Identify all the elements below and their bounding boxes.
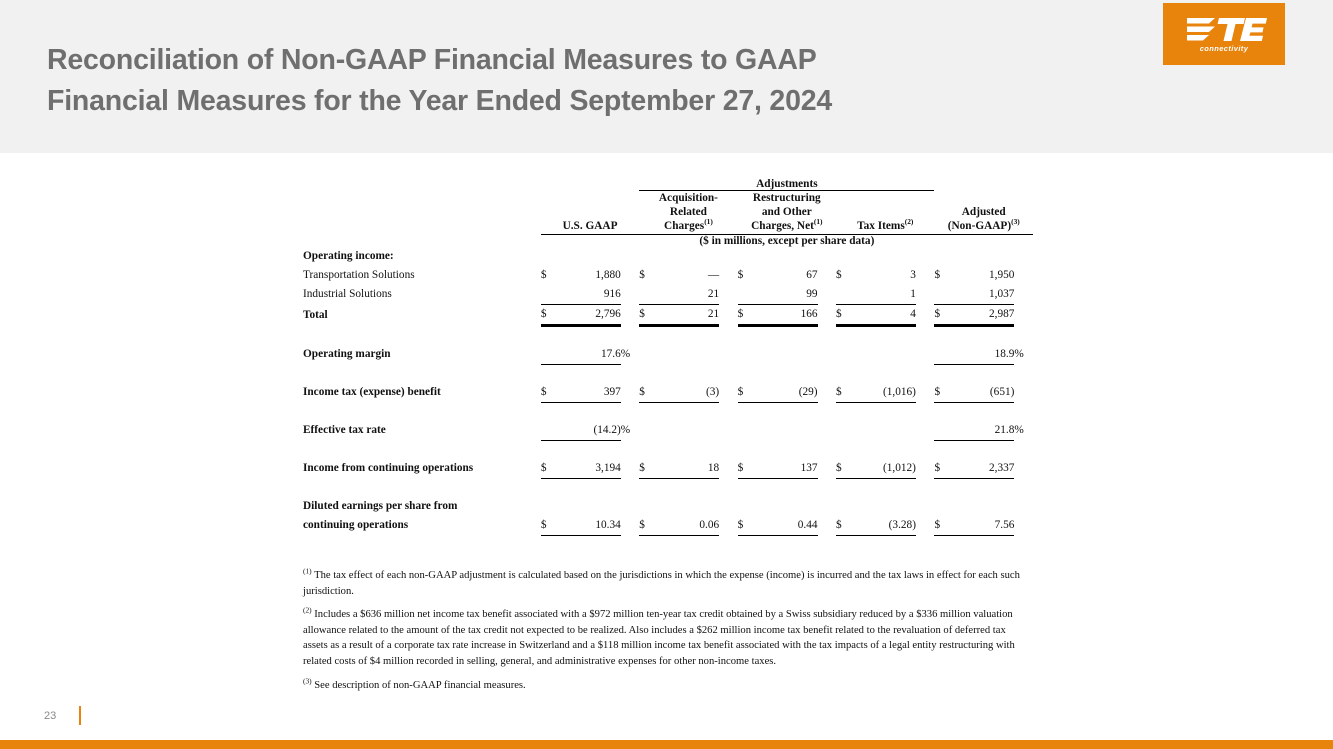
cell-value: [656, 345, 720, 365]
cell-unit: [1014, 383, 1033, 403]
table-row: Industrial Solutions 916 21 99 1 1,037: [303, 285, 1033, 305]
column-header-acquisition-related-charges: Acquisition- Related Charges(1): [639, 191, 737, 235]
cell-symbol: [836, 285, 852, 305]
cell-symbol: $: [541, 266, 557, 285]
cell-value: 10.34: [557, 516, 621, 536]
column-header-tax-items: Tax Items(2): [836, 191, 934, 235]
cell-symbol: $: [836, 516, 852, 536]
cell-unit: [818, 266, 836, 285]
cell-symbol: [639, 285, 655, 305]
cell-unit: [621, 266, 639, 285]
cell-unit: [719, 459, 737, 479]
cell-value: (1,012): [852, 459, 916, 479]
col-head-footnote: (3): [1011, 218, 1020, 227]
col-head-line2: Related: [670, 206, 707, 218]
table-spacer: [303, 478, 1033, 497]
cell-symbol: $: [836, 383, 852, 403]
col-head-footnote: (1): [814, 218, 823, 227]
cell-unit: %: [1014, 421, 1033, 441]
cell-value: 2,337: [951, 459, 1015, 479]
cell-symbol: $: [934, 459, 950, 479]
cell-unit: [1014, 459, 1033, 479]
cell-value: 21.8: [951, 421, 1015, 441]
cell-unit: [621, 285, 639, 305]
cell-value: 2,987: [951, 304, 1015, 325]
cell-value: (651): [951, 383, 1015, 403]
table-spacer: [303, 402, 1033, 421]
cell-unit: [719, 345, 737, 365]
reconciliation-table: Adjustments U.S. GAAP Acquisition- Relat…: [303, 178, 1033, 536]
cell-value: 1,950: [951, 266, 1015, 285]
cell-symbol: $: [541, 516, 557, 536]
cell-value: 1,880: [557, 266, 621, 285]
cell-unit: %: [621, 421, 639, 441]
cell-unit: [621, 459, 639, 479]
cell-symbol: [738, 285, 754, 305]
col-head-line3: Charges: [664, 220, 704, 232]
cell-value: 916: [557, 285, 621, 305]
cell-symbol: $: [934, 304, 950, 325]
cell-unit: [916, 266, 935, 285]
cell-symbol: $: [639, 383, 655, 403]
row-label-diluted-eps-line2: continuing operations: [303, 516, 541, 536]
table-row: continuing operations $ 10.34 $ 0.06 $ 0…: [303, 516, 1033, 536]
cell-symbol: [836, 421, 852, 441]
cell-unit: [1014, 285, 1033, 305]
col-head-line3: U.S. GAAP: [563, 220, 618, 232]
cell-symbol: [738, 345, 754, 365]
te-logo-mark-icon: [1185, 16, 1267, 43]
footnote-1-marker: (1): [303, 566, 312, 575]
cell-value: 397: [557, 383, 621, 403]
section-title-operating-income: Operating income:: [303, 247, 541, 266]
cell-value: (14.2): [557, 421, 621, 441]
row-label-total: Total: [303, 304, 541, 325]
cell-symbol: $: [738, 459, 754, 479]
col-head-line3: Charges, Net: [751, 220, 814, 232]
cell-unit: %: [621, 345, 639, 365]
table-row: Total $ 2,796 $ 21 $ 166 $ 4 $ 2,987: [303, 304, 1033, 325]
col-head-line1: Restructuring: [753, 192, 821, 204]
row-label-effective-tax-rate: Effective tax rate: [303, 421, 541, 441]
cell-value: 99: [754, 285, 818, 305]
row-label-income-tax-expense-benefit: Income tax (expense) benefit: [303, 383, 541, 403]
cell-unit: [916, 516, 935, 536]
cell-symbol: [934, 345, 950, 365]
table-section-row: Operating income:: [303, 247, 1033, 266]
footnote-3-marker: (3): [303, 676, 312, 685]
cell-symbol: $: [836, 304, 852, 325]
cell-value: 137: [754, 459, 818, 479]
footnote-3-text: See description of non-GAAP financial me…: [314, 680, 525, 691]
col-head-line3: Tax Items: [857, 220, 905, 232]
cell-value: [656, 421, 720, 441]
cell-symbol: [934, 421, 950, 441]
page-title-line-2: Financial Measures for the Year Ended Se…: [47, 85, 832, 117]
cell-value: (29): [754, 383, 818, 403]
cell-value: 0.44: [754, 516, 818, 536]
table-row: Income tax (expense) benefit $ 397 $ (3)…: [303, 383, 1033, 403]
col-head-line3: (Non-GAAP): [948, 220, 1011, 232]
units-note: ($ in millions, except per share data): [639, 234, 934, 247]
cell-unit: [818, 459, 836, 479]
cell-unit: [719, 421, 737, 441]
cell-value: (3.28): [852, 516, 916, 536]
cell-symbol: [541, 285, 557, 305]
cell-value: [754, 421, 818, 441]
cell-symbol: $: [738, 266, 754, 285]
cell-symbol: [541, 421, 557, 441]
footnote-2: (2) Includes a $636 million net income t…: [303, 607, 1031, 669]
row-label-income-from-continuing-operations: Income from continuing operations: [303, 459, 541, 479]
table-row: Income from continuing operations $ 3,19…: [303, 459, 1033, 479]
cell-unit: [1014, 516, 1033, 536]
cell-unit: [818, 383, 836, 403]
cell-value: [852, 345, 916, 365]
cell-symbol: [639, 345, 655, 365]
cell-symbol: $: [541, 459, 557, 479]
cell-symbol: $: [639, 459, 655, 479]
cell-unit: [1014, 304, 1033, 325]
cell-unit: [916, 383, 935, 403]
cell-unit: [818, 421, 836, 441]
cell-unit: [621, 516, 639, 536]
cell-value: 21: [656, 304, 720, 325]
cell-value: 17.6: [557, 345, 621, 365]
cell-symbol: $: [934, 383, 950, 403]
cell-unit: %: [1014, 345, 1033, 365]
cell-symbol: $: [541, 383, 557, 403]
page-number: 23: [44, 710, 56, 722]
cell-value: [754, 345, 818, 365]
cell-unit: [719, 304, 737, 325]
cell-symbol: $: [934, 266, 950, 285]
cell-unit: [916, 459, 935, 479]
cell-unit: [916, 421, 935, 441]
cell-symbol: $: [934, 516, 950, 536]
te-logo-tagline: connectivity: [1163, 44, 1285, 53]
col-head-line1: Acquisition-: [659, 192, 718, 204]
cell-unit: [1014, 266, 1033, 285]
cell-value: 1,037: [951, 285, 1015, 305]
cell-unit: [818, 345, 836, 365]
table-row: Transportation Solutions $ 1,880 $ — $ 6…: [303, 266, 1033, 285]
cell-value: 2,796: [557, 304, 621, 325]
te-connectivity-logo: connectivity: [1163, 3, 1285, 65]
cell-unit: [916, 345, 935, 365]
page-title-line-1: Reconciliation of Non-GAAP Financial Mea…: [47, 44, 817, 76]
cell-value: [852, 421, 916, 441]
table-spacer: [303, 364, 1033, 383]
cell-value: —: [656, 266, 720, 285]
cell-unit: [621, 304, 639, 325]
cell-value: 21: [656, 285, 720, 305]
cell-symbol: $: [738, 516, 754, 536]
cell-symbol: $: [639, 266, 655, 285]
row-label-diluted-eps-line1: Diluted earnings per share from: [303, 497, 541, 516]
cell-symbol: $: [738, 304, 754, 325]
cell-unit: [719, 383, 737, 403]
cell-value: 3,194: [557, 459, 621, 479]
column-header-us-gaap: U.S. GAAP: [541, 191, 639, 235]
cell-unit: [818, 285, 836, 305]
cell-value: (1,016): [852, 383, 916, 403]
page-number-divider: [79, 706, 81, 725]
cell-symbol: $: [639, 516, 655, 536]
cell-symbol: $: [639, 304, 655, 325]
column-header-restructuring-and-other-charges-net: Restructuring and Other Charges, Net(1): [738, 191, 836, 235]
cell-symbol: [639, 421, 655, 441]
col-head-footnote: (1): [704, 218, 713, 227]
cell-unit: [719, 285, 737, 305]
cell-symbol: $: [541, 304, 557, 325]
cell-value: 4: [852, 304, 916, 325]
cell-value: 0.06: [656, 516, 720, 536]
cell-value: 7.56: [951, 516, 1015, 536]
cell-value: 1: [852, 285, 916, 305]
footnote-3: (3) See description of non-GAAP financia…: [303, 678, 1031, 694]
cell-unit: [916, 304, 935, 325]
cell-symbol: [836, 345, 852, 365]
table-spacer: [303, 440, 1033, 459]
cell-unit: [719, 266, 737, 285]
header-band: Reconciliation of Non-GAAP Financial Mea…: [0, 0, 1333, 153]
group-header-adjustments: Adjustments: [639, 178, 934, 191]
cell-unit: [916, 285, 935, 305]
footnote-1: (1) The tax effect of each non-GAAP adju…: [303, 568, 1031, 599]
footnote-2-marker: (2): [303, 606, 312, 615]
table-spacer: [303, 325, 1033, 345]
cell-unit: [621, 383, 639, 403]
bottom-accent-bar: [0, 740, 1333, 749]
col-head-line2: and Other: [762, 206, 812, 218]
cell-value: 18.9: [951, 345, 1015, 365]
cell-unit: [818, 304, 836, 325]
cell-symbol: [541, 345, 557, 365]
cell-symbol: $: [836, 266, 852, 285]
col-head-footnote: (2): [905, 218, 914, 227]
column-header-adjusted-non-gaap: Adjusted (Non-GAAP)(3): [934, 191, 1033, 235]
row-label-transportation-solutions: Transportation Solutions: [303, 266, 541, 285]
cell-unit: [719, 516, 737, 536]
table-units-row: ($ in millions, except per share data): [303, 234, 1033, 247]
table-row: Operating margin 17.6 % 18.9 %: [303, 345, 1033, 365]
table-row-label-continuation: Diluted earnings per share from: [303, 497, 1033, 516]
table-column-header-row: U.S. GAAP Acquisition- Related Charges(1…: [303, 191, 1033, 235]
reconciliation-table-container: Adjustments U.S. GAAP Acquisition- Relat…: [303, 178, 1033, 536]
cell-value: 166: [754, 304, 818, 325]
cell-unit: [818, 516, 836, 536]
cell-symbol: [738, 421, 754, 441]
cell-value: 67: [754, 266, 818, 285]
footnote-1-text: The tax effect of each non-GAAP adjustme…: [303, 570, 1020, 597]
table-group-header-row: Adjustments: [303, 178, 1033, 191]
row-label-operating-margin: Operating margin: [303, 345, 541, 365]
table-row: Effective tax rate (14.2) % 21.8 %: [303, 421, 1033, 441]
cell-symbol: [934, 285, 950, 305]
cell-value: 3: [852, 266, 916, 285]
cell-value: 18: [656, 459, 720, 479]
footnote-2-text: Includes a $636 million net income tax b…: [303, 609, 1015, 667]
page-title: Reconciliation of Non-GAAP Financial Mea…: [47, 40, 1127, 122]
cell-symbol: $: [836, 459, 852, 479]
cell-symbol: $: [738, 383, 754, 403]
row-label-industrial-solutions: Industrial Solutions: [303, 285, 541, 305]
cell-value: (3): [656, 383, 720, 403]
col-head-line2: Adjusted: [962, 206, 1006, 218]
footnotes: (1) The tax effect of each non-GAAP adju…: [303, 568, 1031, 701]
